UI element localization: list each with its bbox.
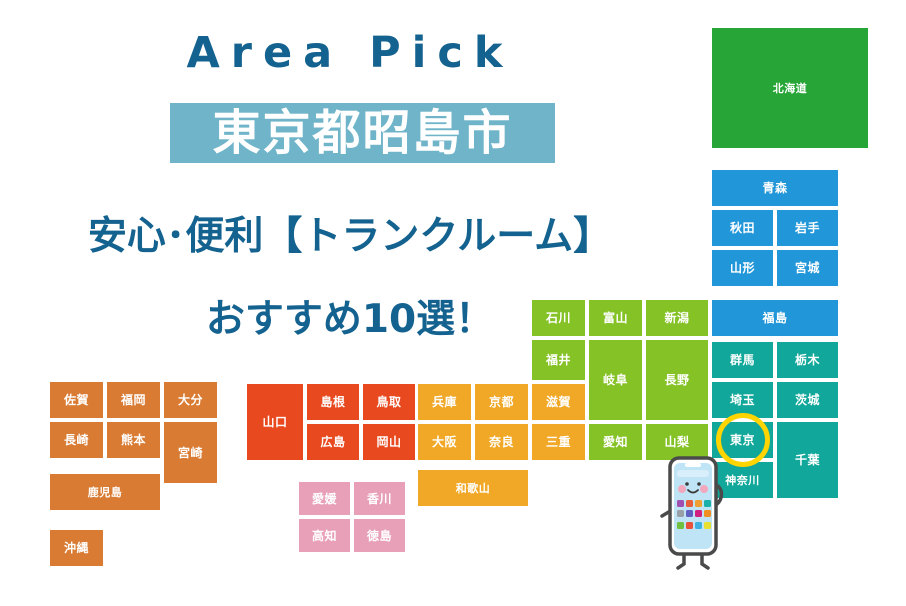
app-icon <box>677 522 684 529</box>
prefecture-和歌山[interactable]: 和歌山 <box>416 468 530 508</box>
mascot-phone-notch <box>685 463 701 467</box>
app-icon <box>677 510 684 517</box>
prefecture-岩手[interactable]: 岩手 <box>775 208 840 248</box>
prefecture-香川[interactable]: 香川 <box>352 480 407 517</box>
app-icon <box>677 500 684 507</box>
mascot-right-cheek <box>700 485 708 493</box>
prefecture-青森[interactable]: 青森 <box>710 168 840 208</box>
app-icon <box>704 500 711 507</box>
prefecture-兵庫[interactable]: 兵庫 <box>416 382 473 422</box>
app-icon <box>686 522 693 529</box>
prefecture-滋賀[interactable]: 滋賀 <box>530 382 587 422</box>
prefecture-京都[interactable]: 京都 <box>473 382 530 422</box>
prefecture-山形[interactable]: 山形 <box>710 248 775 288</box>
prefecture-茨城[interactable]: 茨城 <box>775 380 840 420</box>
prefecture-鳥取[interactable]: 鳥取 <box>361 382 417 422</box>
prefecture-宮崎[interactable]: 宮崎 <box>162 420 219 485</box>
prefecture-福井[interactable]: 福井 <box>530 338 587 382</box>
prefecture-北海道[interactable]: 北海道 <box>710 26 870 150</box>
app-icon <box>686 510 693 517</box>
prefecture-秋田[interactable]: 秋田 <box>710 208 775 248</box>
app-icon <box>704 510 711 517</box>
prefecture-富山[interactable]: 富山 <box>587 298 644 338</box>
prefecture-長崎[interactable]: 長崎 <box>48 420 105 460</box>
prefecture-宮城[interactable]: 宮城 <box>775 248 840 288</box>
prefecture-大分[interactable]: 大分 <box>162 380 219 420</box>
prefecture-岐阜[interactable]: 岐阜 <box>587 338 644 422</box>
prefecture-島根[interactable]: 島根 <box>305 382 361 422</box>
app-icon <box>695 522 702 529</box>
prefecture-愛媛[interactable]: 愛媛 <box>297 480 352 517</box>
prefecture-長野[interactable]: 長野 <box>644 338 710 422</box>
prefecture-新潟[interactable]: 新潟 <box>644 298 710 338</box>
prefecture-広島[interactable]: 広島 <box>305 422 361 462</box>
prefecture-鹿児島[interactable]: 鹿児島 <box>48 472 162 512</box>
mascot-right-eye <box>697 482 701 486</box>
prefecture-徳島[interactable]: 徳島 <box>352 517 407 554</box>
prefecture-石川[interactable]: 石川 <box>530 298 587 338</box>
prefecture-山口[interactable]: 山口 <box>245 382 305 462</box>
app-icon <box>695 510 702 517</box>
prefecture-愛知[interactable]: 愛知 <box>587 422 644 462</box>
app-icon <box>695 500 702 507</box>
prefecture-栃木[interactable]: 栃木 <box>775 340 840 380</box>
mascot-left-eye <box>685 482 689 486</box>
prefecture-岡山[interactable]: 岡山 <box>361 422 417 462</box>
prefecture-大阪[interactable]: 大阪 <box>416 422 473 462</box>
mascot-status-bar <box>677 470 709 477</box>
prefecture-三重[interactable]: 三重 <box>530 422 587 462</box>
prefecture-福島[interactable]: 福島 <box>710 298 840 338</box>
prefecture-佐賀[interactable]: 佐賀 <box>48 380 105 420</box>
mascot-left-cheek <box>678 485 686 493</box>
prefecture-福岡[interactable]: 福岡 <box>105 380 162 420</box>
prefecture-群馬[interactable]: 群馬 <box>710 340 775 380</box>
smartphone-mascot <box>660 448 726 573</box>
app-icon <box>686 500 693 507</box>
japan-prefecture-map: 北海道青森秋田岩手山形宮城福島群馬栃木埼玉茨城東京千葉神奈川石川富山新潟福井岐阜… <box>0 0 906 606</box>
prefecture-千葉[interactable]: 千葉 <box>775 420 840 500</box>
prefecture-熊本[interactable]: 熊本 <box>105 420 162 460</box>
prefecture-沖縄[interactable]: 沖縄 <box>48 528 105 568</box>
app-icon <box>704 522 711 529</box>
prefecture-高知[interactable]: 高知 <box>297 517 352 554</box>
prefecture-奈良[interactable]: 奈良 <box>473 422 530 462</box>
